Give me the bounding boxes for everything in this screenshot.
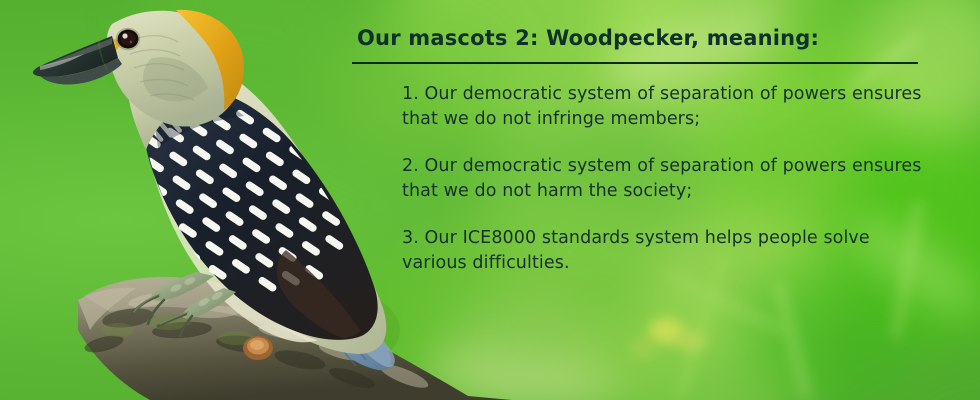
- list-item: 3. Our ICE8000 standards system helps pe…: [402, 226, 927, 276]
- title-divider: [352, 62, 918, 64]
- text-panel: Our mascots 2: Woodpecker, meaning: 1. O…: [352, 24, 932, 276]
- bird-head: [98, 10, 244, 127]
- list-item: 1. Our democratic system of separation o…: [402, 82, 927, 132]
- bokeh-blob: [740, 260, 910, 400]
- blurred-bud: [630, 338, 656, 358]
- list-item: 2. Our democratic system of separation o…: [402, 154, 927, 204]
- mascot-meaning-list: 1. Our democratic system of separation o…: [352, 82, 932, 276]
- mascot-banner: Our mascots 2: Woodpecker, meaning: 1. O…: [0, 0, 980, 400]
- bird-eye: [117, 29, 140, 50]
- blurred-bud: [676, 330, 706, 352]
- bird-beak: [33, 36, 122, 85]
- page-title: Our mascots 2: Woodpecker, meaning:: [352, 24, 932, 52]
